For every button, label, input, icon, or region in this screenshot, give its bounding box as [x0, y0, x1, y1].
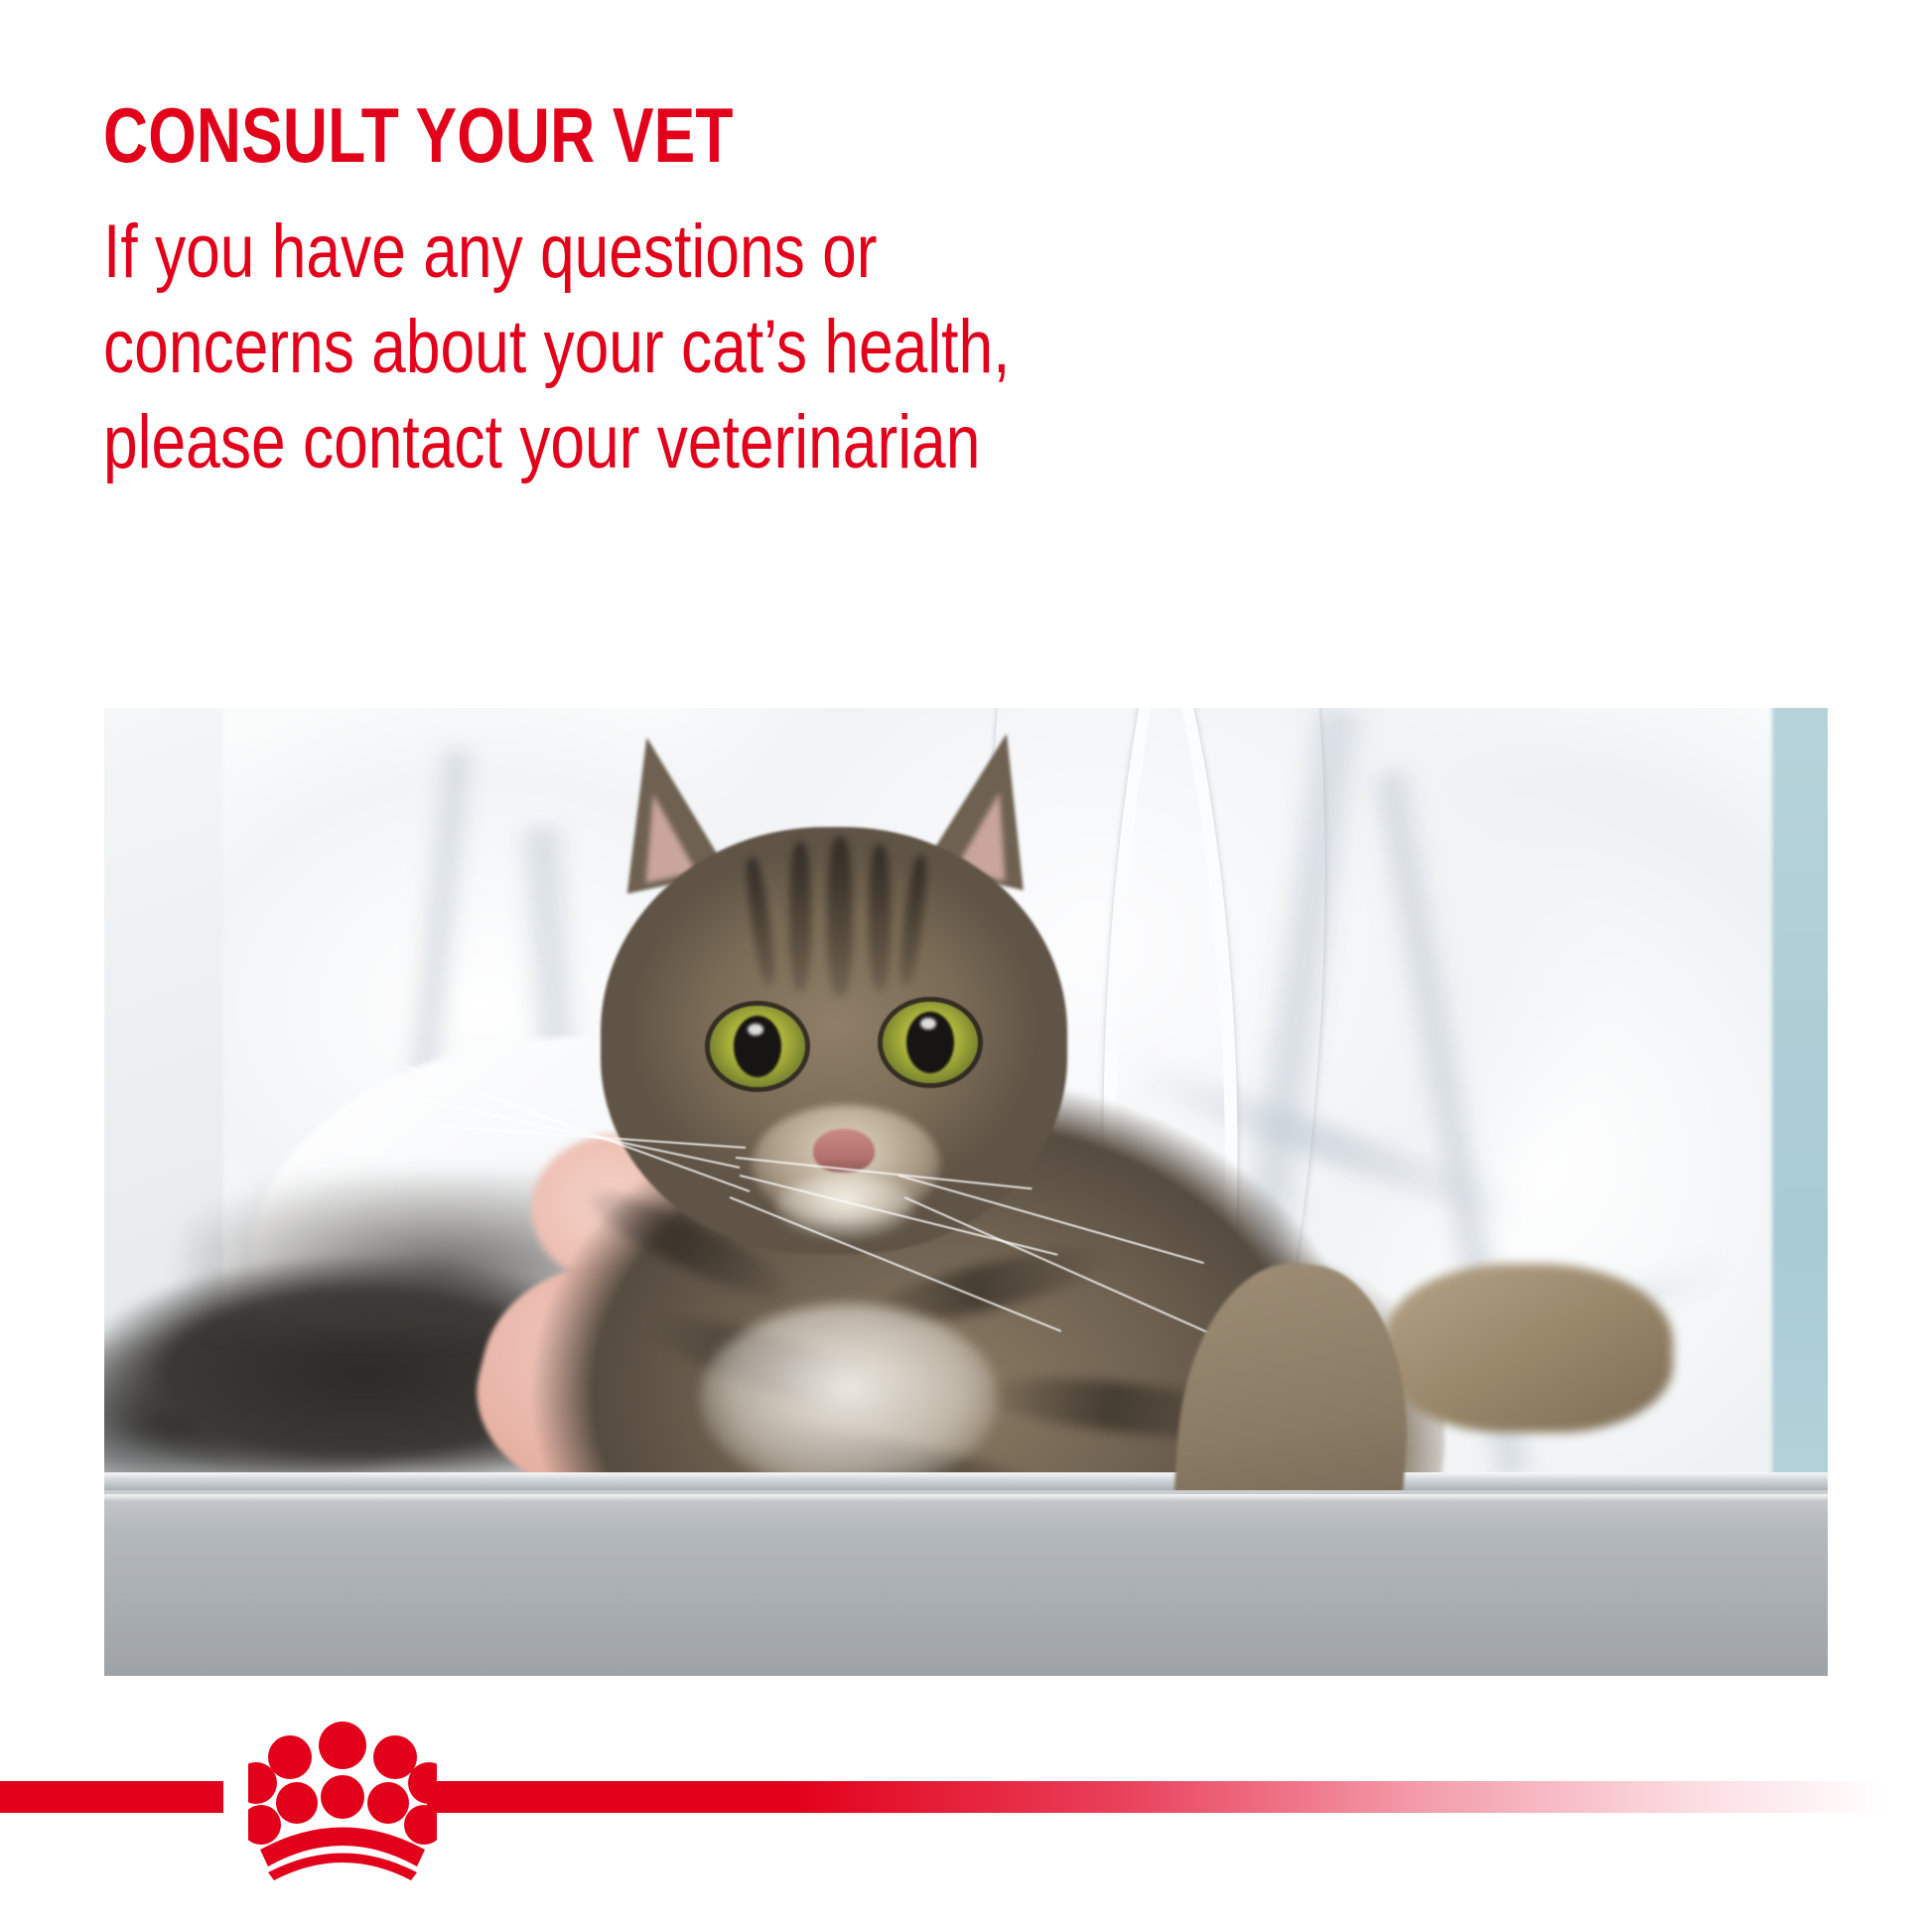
cat-chest-ruff: [700, 1304, 998, 1492]
cat-forehead-stripe: [827, 837, 853, 996]
body-copy: If you have any questions or concerns ab…: [103, 175, 1162, 490]
exam-table-edge: [104, 1490, 1828, 1676]
body-line-1: If you have any questions or: [103, 205, 1162, 300]
body-line-2: concerns about your cat’s health,: [103, 300, 1162, 395]
text-block: CONSULT YOUR VET If you have any questio…: [103, 95, 1394, 490]
cat-chin: [775, 1174, 914, 1238]
vet-cat-photo: [104, 708, 1828, 1676]
cat-forehead-stripe: [869, 845, 891, 990]
cat-paw-far: [1385, 1264, 1673, 1433]
cat-eye-glint-left: [748, 1024, 763, 1035]
exam-table-surface: [104, 1472, 1828, 1490]
footer-rule-left: [0, 1781, 223, 1813]
royal-canin-crown-icon: [248, 1718, 437, 1881]
page-title: CONSULT YOUR VET: [103, 95, 1136, 175]
body-line-3: please contact your veterinarian: [103, 395, 1162, 490]
exam-table-sheen: [104, 1494, 1828, 1501]
footer-rule-right: [427, 1781, 1932, 1813]
poster-canvas: CONSULT YOUR VET If you have any questio…: [0, 0, 1932, 1932]
cat-eye-glint-right: [920, 1018, 936, 1030]
cat-forehead-stripe: [789, 842, 811, 991]
